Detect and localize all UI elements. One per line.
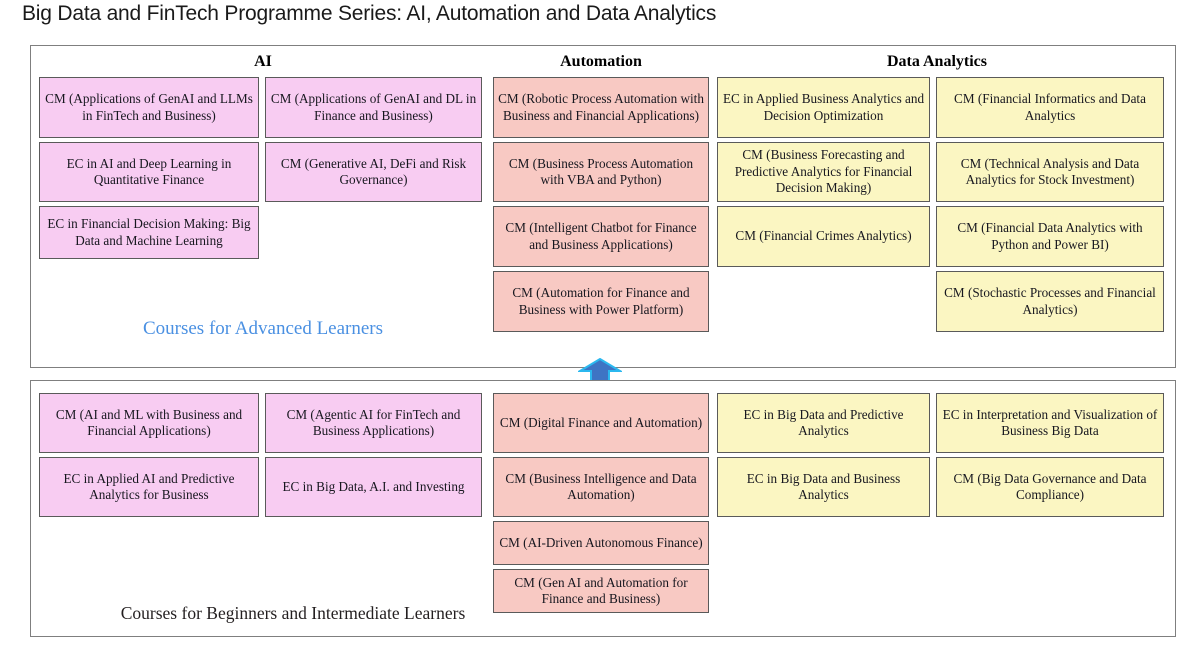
beginner-learners-label: Courses for Beginners and Intermediate L… (121, 603, 466, 624)
course-cell[interactable]: EC in Big Data and Predictive Analytics (717, 393, 930, 453)
course-cell[interactable]: EC in Big Data, A.I. and Investing (265, 457, 482, 517)
column-header-ai: AI (254, 53, 272, 71)
course-cell[interactable]: CM (Applications of GenAI and DL in Fina… (265, 77, 482, 138)
course-cell[interactable]: CM (Automation for Finance and Business … (493, 271, 709, 332)
course-cell[interactable]: CM (Big Data Governance and Data Complia… (936, 457, 1164, 517)
course-cell[interactable]: CM (Financial Informatics and Data Analy… (936, 77, 1164, 138)
course-cell[interactable]: EC in AI and Deep Learning in Quantitati… (39, 142, 259, 202)
course-cell[interactable]: CM (AI-Driven Autonomous Finance) (493, 521, 709, 565)
course-cell[interactable]: CM (Business Intelligence and Data Autom… (493, 457, 709, 517)
advanced-learners-label: Courses for Advanced Learners (143, 318, 383, 340)
course-cell[interactable]: EC in Financial Decision Making: Big Dat… (39, 206, 259, 259)
course-cell[interactable]: CM (Agentic AI for FinTech and Business … (265, 393, 482, 453)
course-cell[interactable]: CM (Business Forecasting and Predictive … (717, 142, 930, 202)
course-cell[interactable]: EC in Applied AI and Predictive Analytic… (39, 457, 259, 517)
advanced-learners-panel: AI Automation Data Analytics CM (Applica… (30, 45, 1176, 368)
course-cell[interactable]: CM (Stochastic Processes and Financial A… (936, 271, 1164, 332)
column-header-automation: Automation (560, 53, 642, 71)
course-cell[interactable]: EC in Applied Business Analytics and Dec… (717, 77, 930, 138)
course-cell[interactable]: CM (Digital Finance and Automation) (493, 393, 709, 453)
course-cell[interactable]: CM (Intelligent Chatbot for Finance and … (493, 206, 709, 267)
course-cell[interactable]: CM (Business Process Automation with VBA… (493, 142, 709, 202)
column-header-analytics: Data Analytics (887, 53, 987, 71)
course-cell[interactable]: CM (Gen AI and Automation for Finance an… (493, 569, 709, 613)
beginner-learners-panel: CM (AI and ML with Business and Financia… (30, 380, 1176, 637)
course-cell[interactable]: CM (Financial Crimes Analytics) (717, 206, 930, 267)
course-cell[interactable]: CM (Applications of GenAI and LLMs in Fi… (39, 77, 259, 138)
course-cell[interactable]: EC in Interpretation and Visualization o… (936, 393, 1164, 453)
page-title: Big Data and FinTech Programme Series: A… (22, 2, 716, 26)
course-cell[interactable]: CM (Financial Data Analytics with Python… (936, 206, 1164, 267)
course-cell[interactable]: CM (Technical Analysis and Data Analytic… (936, 142, 1164, 202)
course-cell[interactable]: CM (Robotic Process Automation with Busi… (493, 77, 709, 138)
course-cell[interactable]: CM (Generative AI, DeFi and Risk Governa… (265, 142, 482, 202)
course-cell[interactable]: EC in Big Data and Business Analytics (717, 457, 930, 517)
course-cell[interactable]: CM (AI and ML with Business and Financia… (39, 393, 259, 453)
